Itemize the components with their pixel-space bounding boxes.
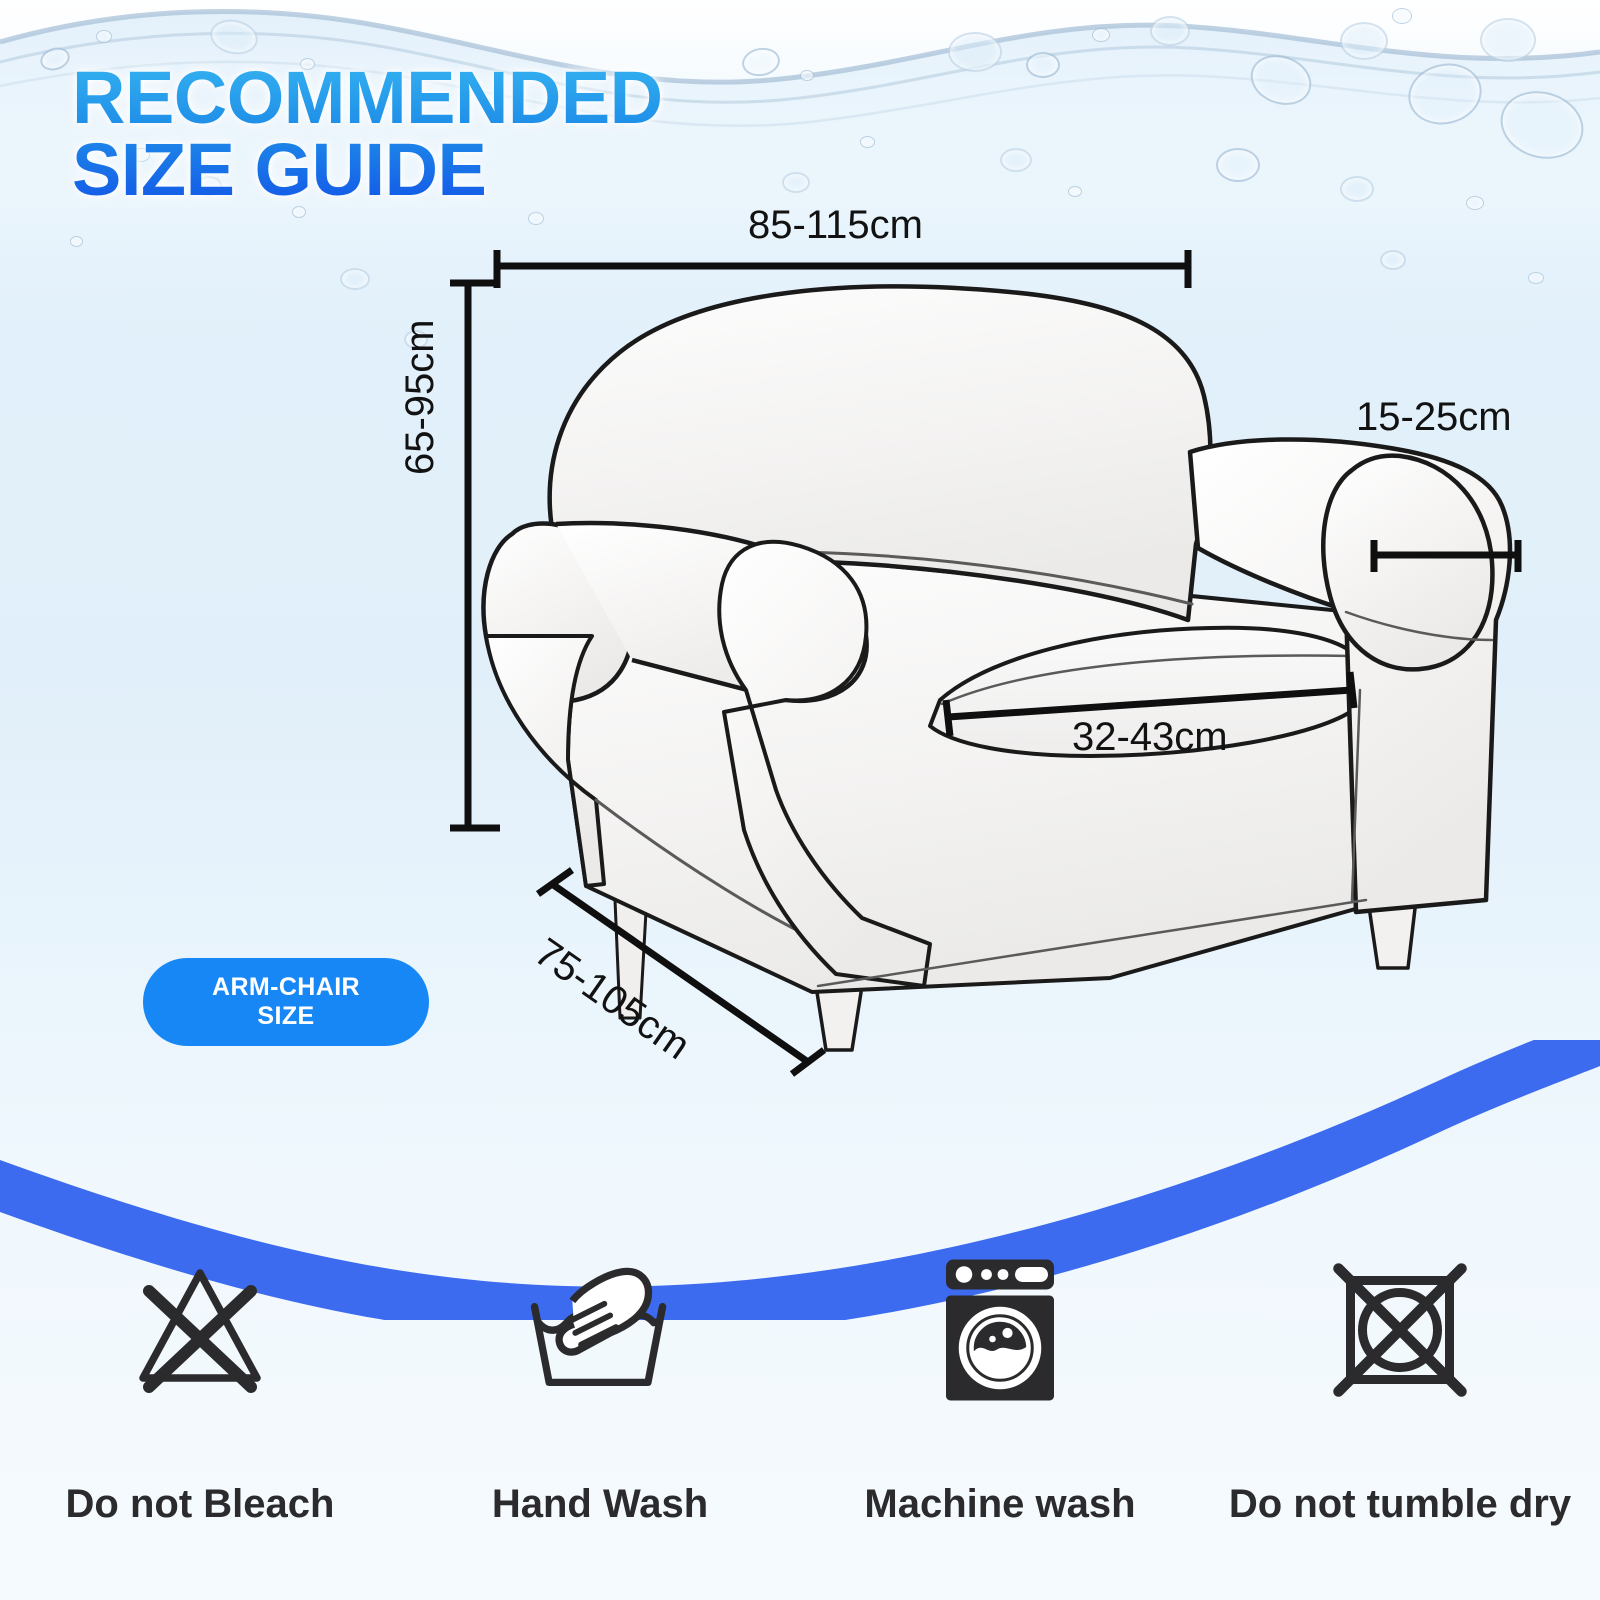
- height-dimension-label: 65-95cm: [398, 319, 443, 475]
- arm-dimension-label: 15-25cm: [1356, 395, 1512, 440]
- care-label-do-not-tumble-dry: Do not tumble dry: [1229, 1482, 1571, 1527]
- do-not-tumble-dry-icon: [1325, 1240, 1475, 1420]
- do-not-bleach-icon: [125, 1240, 275, 1420]
- badge-line-2: SIZE: [257, 1002, 314, 1032]
- product-size-badge: ARM-CHAIR SIZE: [143, 958, 429, 1046]
- hand-wash-icon: [520, 1240, 680, 1420]
- care-label-hand-wash: Hand Wash: [492, 1482, 708, 1527]
- width-dimension-label: 85-115cm: [748, 203, 923, 248]
- care-item-do-not-bleach: Do not Bleach: [0, 1240, 400, 1527]
- care-instructions-row: Do not Bleach Hand Wash: [0, 1240, 1600, 1527]
- armchair-diagram: [0, 0, 1600, 1120]
- badge-line-1: ARM-CHAIR: [212, 973, 360, 1003]
- seat-dimension-cap-right: [1350, 672, 1354, 708]
- care-item-do-not-tumble-dry: Do not tumble dry: [1200, 1240, 1600, 1527]
- size-guide-infographic: RECOMMENDED SIZE GUIDE: [0, 0, 1600, 1600]
- care-label-do-not-bleach: Do not Bleach: [66, 1482, 335, 1527]
- care-item-hand-wash: Hand Wash: [400, 1240, 800, 1527]
- seat-dimension-cap-left: [946, 700, 950, 736]
- machine-wash-icon: [925, 1240, 1075, 1420]
- care-item-machine-wash: Machine wash: [800, 1240, 1200, 1527]
- seat-dimension-label: 32-43cm: [1072, 715, 1228, 760]
- care-label-machine-wash: Machine wash: [864, 1482, 1135, 1527]
